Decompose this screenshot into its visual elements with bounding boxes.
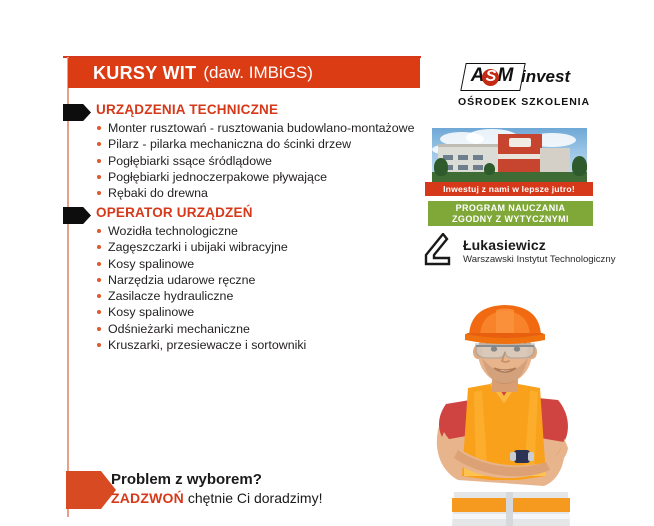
photo-banner: Inwestuj z nami w lepsze jutro! <box>425 182 593 196</box>
list-item: Pogłębiarki jednoczerpakowe pływające <box>96 169 414 185</box>
construction-worker-photo <box>418 300 654 526</box>
pentagon-marker-icon <box>63 207 91 224</box>
list-item: Kosy spalinowe <box>96 256 306 272</box>
badge-line-1: PROGRAM NAUCZANIA <box>456 203 566 214</box>
pentagon-marker-icon <box>63 104 91 121</box>
tree-shape <box>484 163 495 175</box>
building-right <box>540 148 570 174</box>
arrow-marker-icon <box>66 471 116 509</box>
page-title-bar: KURSY WIT (daw. IMBiGS) <box>68 58 420 88</box>
building-stripe <box>498 154 542 159</box>
logo-letter-m: M <box>497 65 513 87</box>
cta-highlight: ZADZWOŃ <box>111 490 184 506</box>
list-item: Kruszarki, przesiewacze i sortowniki <box>96 337 306 353</box>
cta-question: Problem z wyborem? <box>111 471 262 488</box>
list-item: Wozidła technologiczne <box>96 223 306 239</box>
lukasiewicz-subtitle: Warszawski Instytut Technologiczny <box>463 254 616 265</box>
program-badge: PROGRAM NAUCZANIA ZGODNY Z WYTYCZNYMI <box>428 201 593 226</box>
tree-shape <box>572 156 587 176</box>
photo-banner-text: Inwestuj z nami w lepsze jutro! <box>443 184 575 194</box>
logo-letter-s: S <box>482 69 499 86</box>
building-photo <box>432 128 587 182</box>
lukasiewicz-logo: Łukasiewicz Warszawski Instytut Technolo… <box>423 233 613 275</box>
tree-shape <box>434 158 448 176</box>
list-item: Kosy spalinowe <box>96 304 306 320</box>
poster-root: KURSY WIT (daw. IMBiGS) URZĄDZENIA TECHN… <box>0 0 654 526</box>
course-list: Wozidła technologiczne Zagęszczarki i ub… <box>96 223 306 353</box>
logo-letters: ASM <box>463 63 521 89</box>
building-sign <box>509 138 531 147</box>
list-item: Rębaki do drewna <box>96 185 414 201</box>
list-item: Pogłębiarki ssące śródlądowe <box>96 153 414 169</box>
list-item: Pilarz - pilarka mechaniczna do ścinki d… <box>96 136 414 152</box>
photo-ground <box>432 172 587 182</box>
list-item: Zagęszczarki i ubijaki wibracyjne <box>96 239 306 255</box>
asm-invest-logo: ASM invest <box>463 63 571 91</box>
list-item: Odśnieżarki mechaniczne <box>96 321 306 337</box>
page-title: KURSY WIT <box>93 63 196 84</box>
list-item: Narzędzia udarowe ręczne <box>96 272 306 288</box>
badge-line-2: ZGODNY Z WYTYCZNYMI <box>452 214 569 225</box>
cta-rest: chętnie Ci doradzimy! <box>184 490 323 506</box>
section-title: URZĄDZENIA TECHNICZNE <box>96 102 278 117</box>
section-title: OPERATOR URZĄDZEŃ <box>96 205 253 220</box>
page-title-subtitle: (daw. IMBiGS) <box>203 63 313 83</box>
lukasiewicz-mark-icon <box>423 233 457 267</box>
lukasiewicz-name: Łukasiewicz <box>463 237 616 253</box>
lukasiewicz-text: Łukasiewicz Warszawski Instytut Technolo… <box>463 237 616 265</box>
list-item: Zasilacze hydrauliczne <box>96 288 306 304</box>
logo-subtitle: OŚRODEK SZKOLENIA <box>449 96 599 108</box>
building-main-red <box>498 134 542 176</box>
worker-illustration <box>418 300 654 526</box>
left-vertical-rail <box>67 57 69 517</box>
list-item: Monter rusztowań - rusztowania budowlano… <box>96 120 414 136</box>
cta-answer: ZADZWOŃ chętnie Ci doradzimy! <box>111 490 322 508</box>
course-list: Monter rusztowań - rusztowania budowlano… <box>96 120 414 201</box>
logo-wordmark: invest <box>521 67 570 87</box>
